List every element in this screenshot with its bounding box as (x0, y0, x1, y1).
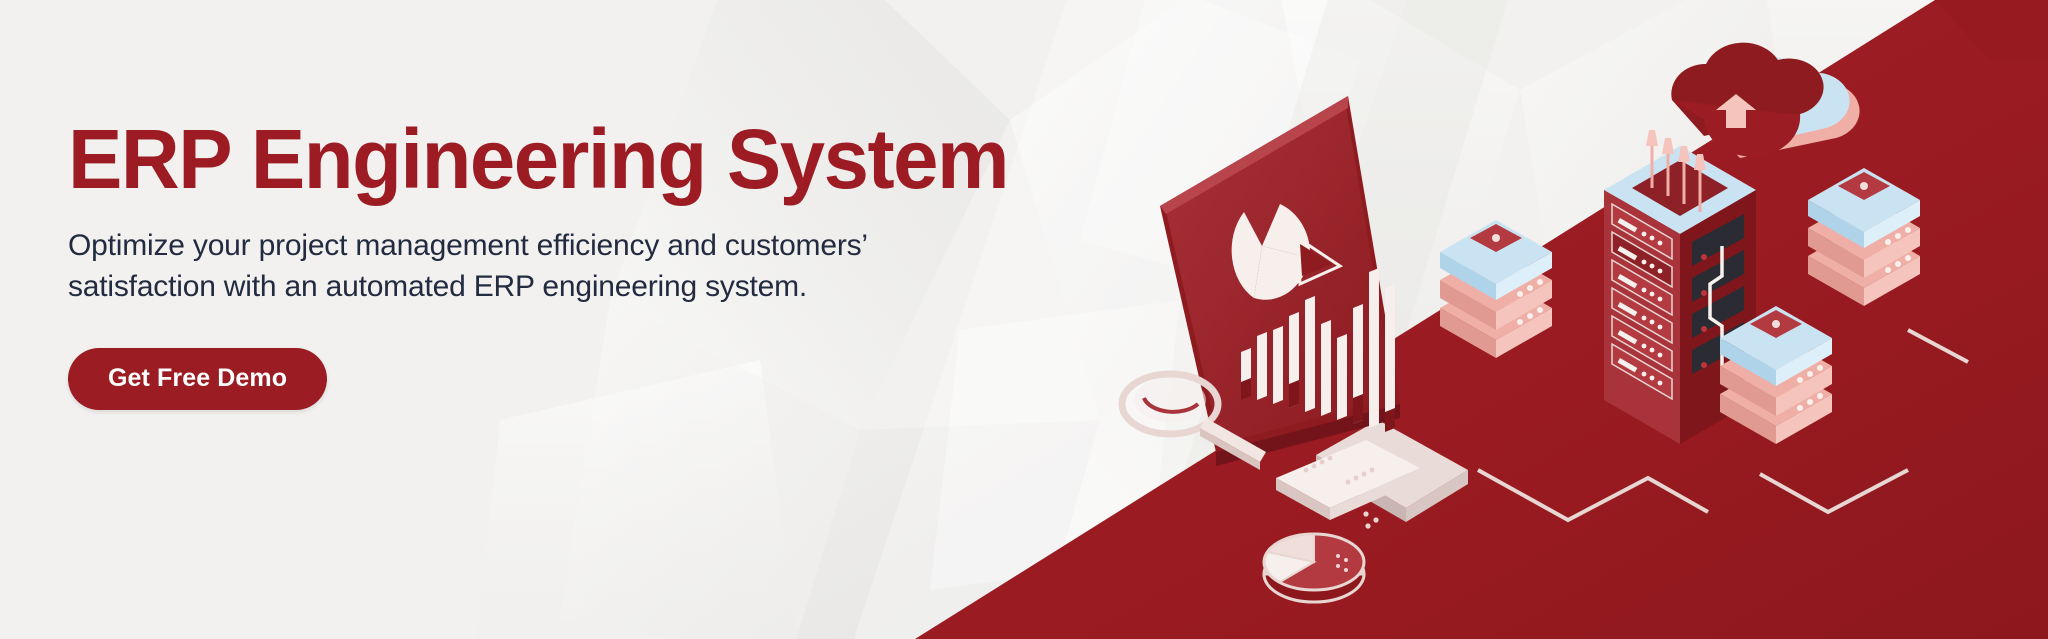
server-stack-left (1440, 220, 1552, 358)
hero-copy: ERP Engineering System Optimize your pro… (68, 118, 1068, 410)
pie-chart-3d (1264, 511, 1379, 602)
monitor-screen (1160, 96, 1468, 522)
page-title: ERP Engineering System (68, 118, 1038, 200)
cloud-upload-icon (1671, 43, 1859, 158)
get-free-demo-button[interactable]: Get Free Demo (68, 348, 327, 410)
datacenter-illustration (1048, 0, 2048, 639)
hero-subheadline: Optimize your project management efficie… (68, 226, 948, 308)
cta-container: Get Free Demo (68, 348, 1068, 410)
server-stack-right (1808, 168, 1920, 306)
erp-hero-banner: ERP Engineering System Optimize your pro… (0, 0, 2048, 639)
